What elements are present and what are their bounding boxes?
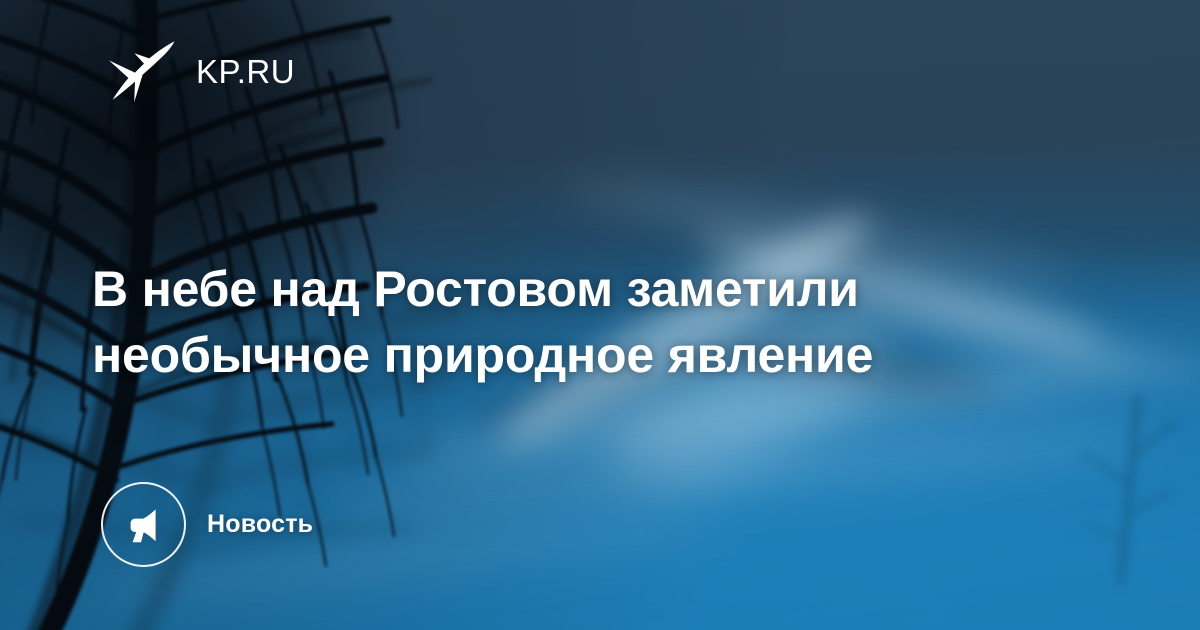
status-badge[interactable]: Новость: [101, 482, 313, 567]
news-share-card: KP.RU В небе над Ростовом заметили необы…: [0, 0, 1200, 630]
megaphone-icon: [101, 482, 186, 567]
status-badge-label: Новость: [207, 510, 313, 539]
site-logo[interactable]: KP.RU: [104, 38, 295, 104]
swallow-bird-icon: [104, 38, 182, 104]
page-title: В небе над Ростовом заметили необычное п…: [92, 256, 1042, 388]
site-logo-text: KP.RU: [196, 55, 295, 88]
